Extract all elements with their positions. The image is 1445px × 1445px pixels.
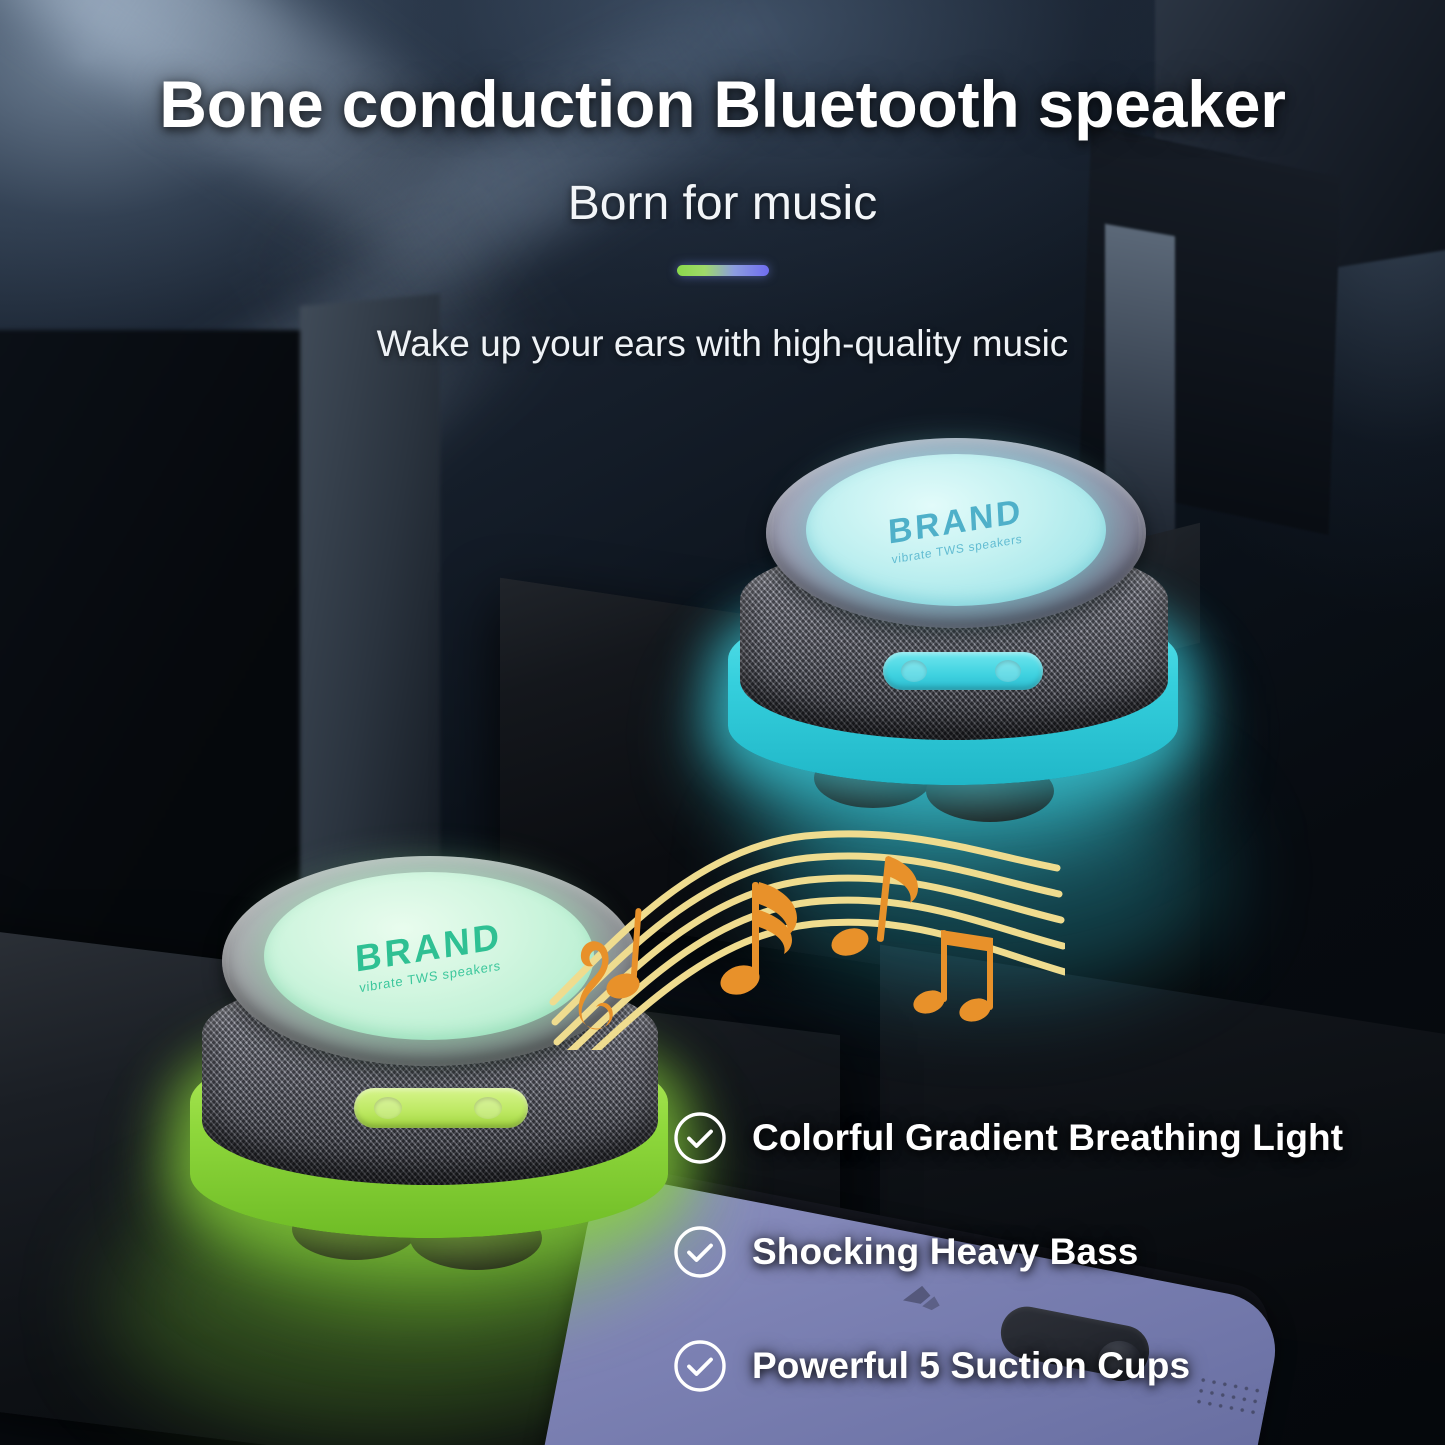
feature-label: Shocking Heavy Bass (752, 1231, 1138, 1273)
background-block (300, 294, 440, 926)
speaker-button[interactable] (474, 1097, 502, 1119)
feature-item: Colorful Gradient Breathing Light (672, 1110, 1442, 1166)
speaker-button-bar[interactable] (883, 652, 1043, 690)
speaker-button[interactable] (374, 1097, 402, 1119)
speaker-top: BRAND vibrate TWS speakers (718, 430, 1188, 830)
check-circle-icon (672, 1338, 728, 1394)
page-subtitle: Born for music (0, 176, 1445, 231)
check-circle-icon (672, 1224, 728, 1280)
feature-label: Powerful 5 Suction Cups (752, 1345, 1190, 1387)
page-tagline: Wake up your ears with high-quality musi… (0, 323, 1445, 365)
check-circle-icon (672, 1110, 728, 1166)
feature-label: Colorful Gradient Breathing Light (752, 1117, 1343, 1159)
music-notes-graphic (545, 790, 1065, 1050)
page-title: Bone conduction Bluetooth speaker (0, 66, 1445, 142)
speaker-brand-block: BRAND vibrate TWS speakers (806, 454, 1106, 606)
feature-item: Powerful 5 Suction Cups (672, 1338, 1442, 1394)
product-banner: BRAND vibrate TWS speakers BRAND vibrate… (0, 0, 1445, 1445)
feature-item: Shocking Heavy Bass (672, 1224, 1442, 1280)
speaker-button[interactable] (995, 660, 1021, 682)
feature-list: Colorful Gradient Breathing Light Shocki… (672, 1110, 1442, 1445)
speaker-button[interactable] (901, 660, 927, 682)
gradient-divider (677, 265, 769, 276)
speaker-light-face: BRAND vibrate TWS speakers (806, 454, 1106, 606)
speaker-button-bar[interactable] (354, 1088, 528, 1128)
